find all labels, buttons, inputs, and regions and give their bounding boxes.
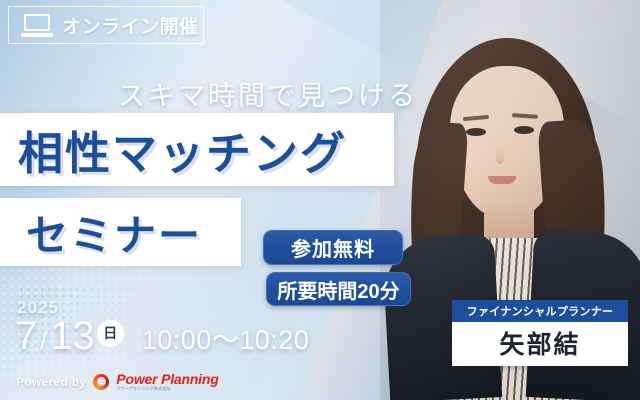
power-planning-logo-icon xyxy=(93,374,109,390)
online-event-badge: オンライン開催 xyxy=(8,6,204,44)
laptop-icon xyxy=(21,14,53,37)
seminar-title-line2: セミナー xyxy=(26,202,202,263)
power-planning-brand-sub: パワープランニング株式会社 xyxy=(116,387,218,391)
powered-by: Powered by Power Planning パワープランニング株式会社 xyxy=(16,372,219,391)
portrait-mouth xyxy=(488,176,516,184)
powered-by-prefix: Powered by xyxy=(16,375,86,389)
seminar-banner: オンライン開催 スキマ時間で見つける 相性マッチング セミナー 参加無料 所要時… xyxy=(0,0,640,400)
schedule-time: 10:00〜10:20 xyxy=(142,327,310,354)
badge-duration: 所要時間20分 xyxy=(266,272,411,306)
badge-free-participation: 参加無料 xyxy=(263,230,403,265)
schedule-month: 7 xyxy=(15,316,37,356)
portrait-eye-left xyxy=(466,128,486,136)
seminar-title-band-1: 相性マッチング xyxy=(0,113,394,186)
seminar-title-line1: 相性マッチング xyxy=(18,117,347,182)
presenter-nameplate: ファイナンシャルプランナー 矢部結 xyxy=(452,300,628,366)
presenter-name: 矢部結 xyxy=(452,322,628,366)
portrait-nose xyxy=(496,148,504,164)
seminar-title-band-2: セミナー xyxy=(0,198,241,266)
seminar-subtitle: スキマ時間で見つける xyxy=(118,74,418,113)
portrait-eye-right xyxy=(514,126,534,134)
schedule-date-row: 7 / 13 日 10:00〜10:20 xyxy=(15,316,309,356)
presenter-role: ファイナンシャルプランナー xyxy=(452,300,628,322)
schedule-day-of-week: 日 xyxy=(97,320,124,347)
power-planning-wordmark: Power Planning パワープランニング株式会社 xyxy=(116,372,218,391)
schedule-separator: / xyxy=(40,329,47,354)
schedule-day: 13 xyxy=(50,316,95,356)
power-planning-brand: Power Planning xyxy=(116,372,218,386)
online-event-label: オンライン開催 xyxy=(62,12,199,39)
